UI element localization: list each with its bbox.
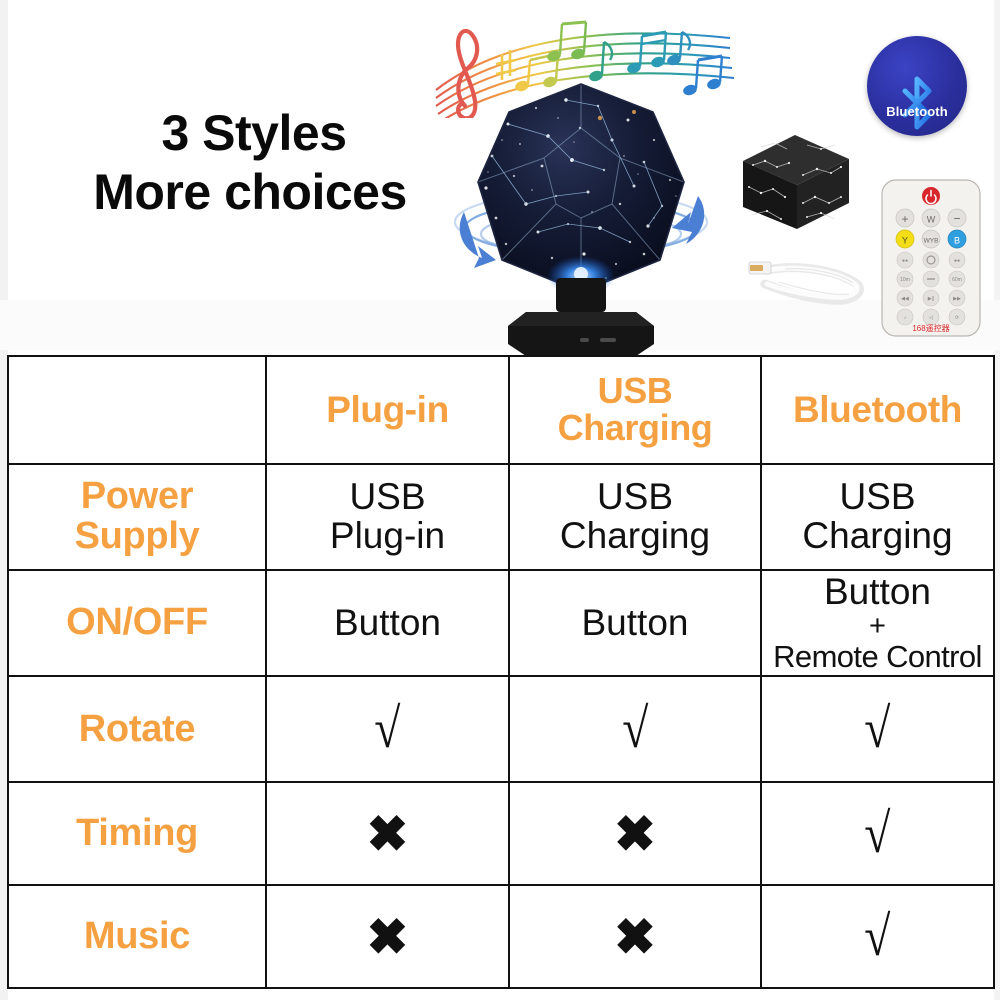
cell-line-1: Button: [271, 604, 504, 643]
cell-line-3: Remote Control: [766, 641, 989, 674]
row-label-on-off: ON/OFF: [8, 570, 266, 676]
svg-text:Y: Y: [902, 236, 908, 246]
row-label-text: Timing: [76, 812, 198, 854]
header-cell-empty: [8, 356, 266, 464]
star-projector-lamp: [448, 78, 714, 356]
constellation-gift-box: [737, 127, 855, 235]
svg-text:●●: ●●: [902, 258, 908, 264]
cell-music-usb-charging: ✖: [509, 885, 761, 988]
svg-text:B: B: [954, 236, 960, 246]
row-label-supply: Supply: [75, 515, 200, 557]
header-label-plug-in: Plug-in: [326, 389, 449, 430]
usb-cable: [745, 250, 875, 312]
cross-icon: ✖: [614, 809, 656, 859]
row-label-text: Music: [84, 915, 190, 957]
table-header-row: Plug-in USB Charging Bluetooth: [8, 356, 994, 464]
header-label-charging: Charging: [558, 407, 713, 448]
table-row-power-supply: Power Supply USB Plug-in USB Charging US…: [8, 464, 994, 570]
headline-line-1: 3 Styles: [40, 104, 460, 163]
row-label-power-supply: Power Supply: [8, 464, 266, 570]
header-label-bluetooth: Bluetooth: [793, 389, 962, 430]
svg-text:▶▶: ▶▶: [953, 296, 961, 302]
cell-line-1: Button: [766, 573, 989, 612]
cross-icon: ✖: [367, 912, 409, 962]
header-cell-usb-charging: USB Charging: [509, 356, 761, 464]
cell-power-supply-plug-in: USB Plug-in: [266, 464, 509, 570]
cross-icon: ✖: [614, 912, 656, 962]
svg-text:▶||: ▶||: [928, 296, 934, 302]
remote-footer-label: 168遥控器: [912, 323, 949, 333]
product-comparison-infographic: 3 Styles More choices: [0, 0, 1000, 1000]
cell-line-2: Plug-in: [271, 517, 504, 556]
cell-line-1: USB: [271, 478, 504, 517]
svg-text:●●: ●●: [954, 258, 960, 264]
cell-timing-usb-charging: ✖: [509, 782, 761, 885]
cell-line-2: Charging: [514, 517, 756, 556]
bluetooth-badge: Bluetooth: [867, 36, 967, 136]
table-row-on-off: ON/OFF Button Button Button + Remote Con…: [8, 570, 994, 676]
table-row-timing: Timing ✖ ✖ √: [8, 782, 994, 885]
cell-rotate-bluetooth: √: [761, 676, 994, 782]
svg-text:◁: ◁: [929, 315, 933, 321]
cell-power-supply-usb-charging: USB Charging: [509, 464, 761, 570]
cell-on-off-plug-in: Button: [266, 570, 509, 676]
row-label-timing: Timing: [8, 782, 266, 885]
table-row-rotate: Rotate √ √ √: [8, 676, 994, 782]
svg-text:60m: 60m: [952, 277, 962, 283]
svg-text:−: −: [953, 212, 960, 226]
check-icon: √: [374, 701, 400, 757]
cell-power-supply-bluetooth: USB Charging: [761, 464, 994, 570]
check-icon: √: [622, 701, 648, 757]
bluetooth-icon: [895, 76, 939, 130]
cell-line-1: Button: [514, 604, 756, 643]
cell-timing-bluetooth: √: [761, 782, 994, 885]
header-cell-plug-in: Plug-in: [266, 356, 509, 464]
remote-control: + W − Y WYB B ●●●● 10m60m ◀◀▶||▶▶ ♪◁⟳: [872, 178, 990, 338]
cell-rotate-usb-charging: √: [509, 676, 761, 782]
cell-line-1: USB: [766, 478, 989, 517]
cell-music-bluetooth: √: [761, 885, 994, 988]
comparison-table: Plug-in USB Charging Bluetooth Power Sup…: [7, 355, 995, 989]
cross-icon: ✖: [367, 809, 409, 859]
cell-line-1: USB: [514, 478, 756, 517]
cell-on-off-bluetooth: Button + Remote Control: [761, 570, 994, 676]
row-label-power: Power: [81, 475, 194, 517]
header-cell-bluetooth: Bluetooth: [761, 356, 994, 464]
table-row-music: Music ✖ ✖ √: [8, 885, 994, 988]
svg-text:◀◀: ◀◀: [901, 296, 909, 302]
cell-music-plug-in: ✖: [266, 885, 509, 988]
row-label-music: Music: [8, 885, 266, 988]
check-icon: √: [864, 909, 890, 965]
bluetooth-badge-label: Bluetooth: [867, 104, 967, 119]
svg-text:+: +: [901, 212, 908, 226]
svg-text:W: W: [927, 215, 936, 225]
check-icon: √: [864, 806, 890, 862]
cell-timing-plug-in: ✖: [266, 782, 509, 885]
cell-line-plus: +: [766, 612, 989, 641]
cell-line-2: Charging: [766, 517, 989, 556]
cell-rotate-plug-in: √: [266, 676, 509, 782]
svg-text:10m: 10m: [900, 277, 910, 283]
row-label-rotate: Rotate: [8, 676, 266, 782]
svg-text:WYB: WYB: [924, 238, 939, 245]
page-title: 3 Styles More choices: [40, 104, 460, 222]
cell-on-off-usb-charging: Button: [509, 570, 761, 676]
row-label-text: ON/OFF: [66, 601, 208, 643]
row-label-text: Rotate: [79, 708, 195, 750]
header-label-usb: USB: [598, 370, 673, 411]
headline-line-2: More choices: [40, 163, 460, 222]
check-icon: √: [864, 701, 890, 757]
